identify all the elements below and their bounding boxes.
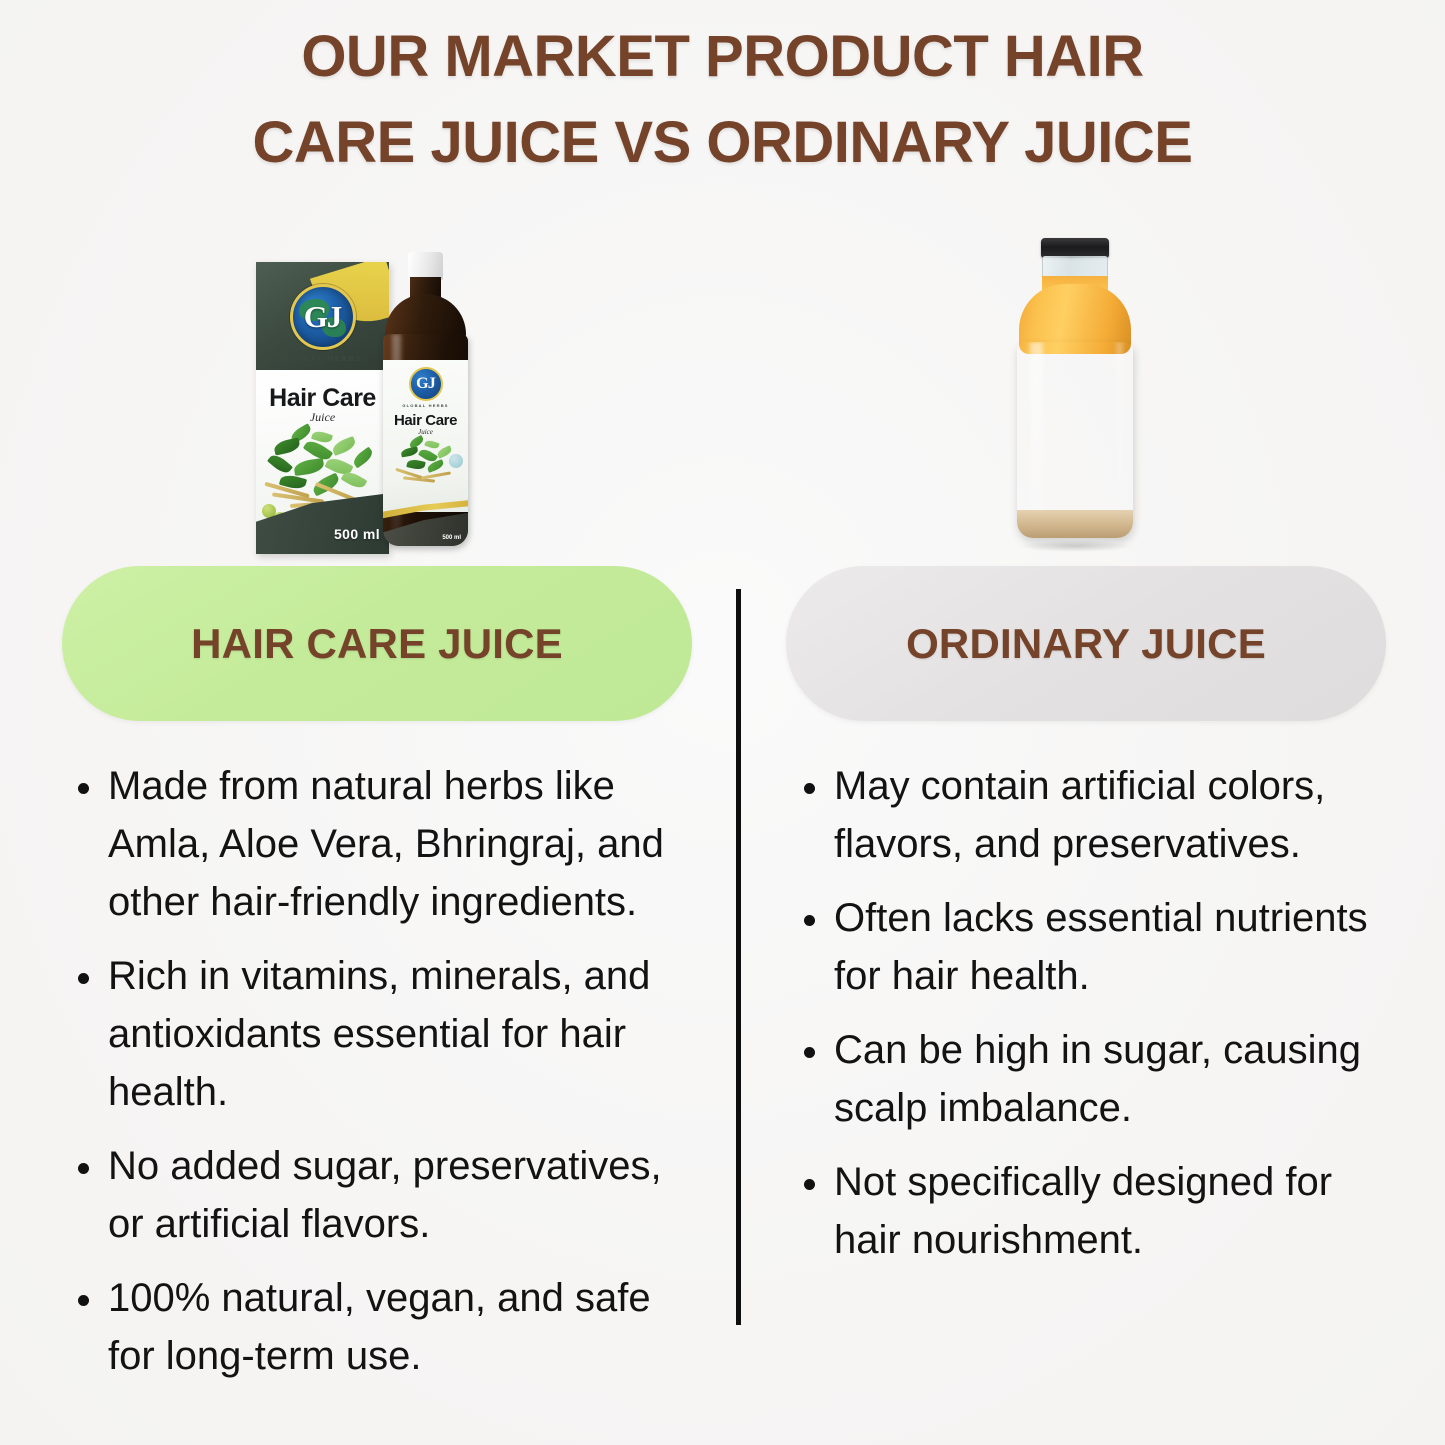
ordinary-juice-badge: ORDINARY JUICE <box>786 566 1386 721</box>
list-item: 100% natural, vegan, and safe for long-t… <box>62 1269 692 1385</box>
bottle-body: GJ GLOBAL HERBS Hair Care Juice <box>383 334 468 546</box>
carton-product-name: Hair Care <box>256 384 389 413</box>
bottle-product-subtitle: Juice <box>383 428 468 436</box>
hair-care-juice-badge: HAIR CARE JUICE <box>62 566 692 721</box>
list-item: Not specifically designed for hair nouri… <box>786 1153 1401 1269</box>
gj-globe-logo-icon: GJ <box>290 284 356 350</box>
list-item: May contain artificial colors, flavors, … <box>786 757 1401 873</box>
juice-bottle-highlight-right <box>1116 342 1123 538</box>
carton-product-subtitle: Juice <box>256 410 389 425</box>
hair-care-bottle: GJ GLOBAL HERBS Hair Care Juice <box>377 252 474 554</box>
hair-care-carton: GJ GLOBAL HERBS Hair Care Juice <box>256 262 389 554</box>
column-divider <box>736 589 741 1325</box>
bottle-label: GJ GLOBAL HERBS Hair Care Juice <box>383 360 468 512</box>
ordinary-juice-label: ORDINARY JUICE <box>906 620 1266 668</box>
title-line-2: CARE JUICE VS ORDINARY JUICE <box>0 100 1445 186</box>
ordinary-juice-product-image <box>995 238 1155 548</box>
hair-care-column: HAIR CARE JUICE Made from natural herbs … <box>62 566 692 1401</box>
carton-brand-initials: GJ <box>304 299 342 335</box>
bottle-volume-label: 500 ml <box>442 535 461 541</box>
hair-care-juice-label: HAIR CARE JUICE <box>191 620 563 668</box>
juice-bottle-body <box>1017 342 1133 538</box>
list-item: Rich in vitamins, minerals, and antioxid… <box>62 947 692 1121</box>
bottle-brand-name: GLOBAL HERBS <box>383 403 468 408</box>
list-item: Made from natural herbs like Amla, Aloe … <box>62 757 692 931</box>
carton-volume-label: 500 ml <box>334 526 380 542</box>
juice-bottle-shadow <box>1019 540 1131 552</box>
list-item: No added sugar, preservatives, or artifi… <box>62 1137 692 1253</box>
page-title: OUR MARKET PRODUCT HAIR CARE JUICE VS OR… <box>0 14 1445 186</box>
ordinary-juice-drawbacks-list: May contain artificial colors, flavors, … <box>786 757 1401 1269</box>
carton-brand-name: GLOBAL HERBS <box>256 356 389 363</box>
title-line-1: OUR MARKET PRODUCT HAIR <box>0 14 1445 100</box>
hair-care-juice-product-image: GJ GLOBAL HERBS Hair Care Juice <box>256 252 496 558</box>
comparison-infographic: OUR MARKET PRODUCT HAIR CARE JUICE VS OR… <box>0 0 1445 1445</box>
juice-bottle-cap <box>1041 238 1109 258</box>
list-item: Often lacks essential nutrients for hair… <box>786 889 1401 1005</box>
bottle-seal-icon <box>449 454 463 468</box>
bottle-product-name: Hair Care <box>383 412 468 429</box>
bottle-cap <box>408 252 443 280</box>
hair-care-benefits-list: Made from natural herbs like Amla, Aloe … <box>62 757 692 1385</box>
bottle-gj-logo-icon: GJ <box>409 367 443 401</box>
juice-bottle-highlight <box>1030 342 1043 538</box>
bottle-measure-scale <box>462 364 466 484</box>
juice-bottle-base <box>1017 510 1133 538</box>
product-images-row: GJ GLOBAL HERBS Hair Care Juice <box>0 236 1445 566</box>
list-item: Can be high in sugar, causing scalp imba… <box>786 1021 1401 1137</box>
ordinary-juice-column: ORDINARY JUICE May contain artificial co… <box>786 566 1401 1285</box>
